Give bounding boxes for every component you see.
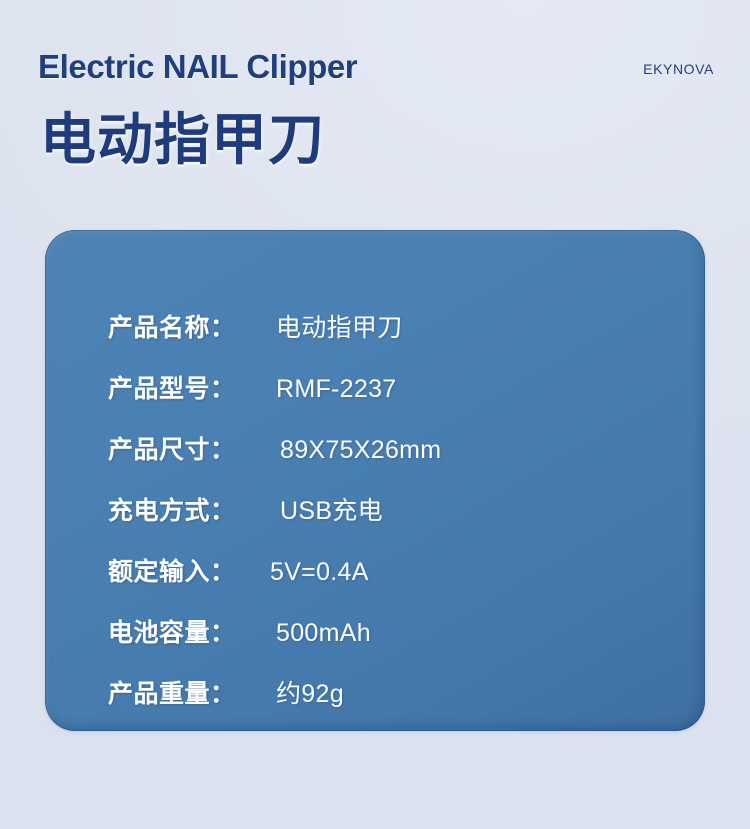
spec-label: 产品重量： <box>108 674 266 710</box>
spec-value: 电动指甲刀 <box>266 308 403 344</box>
spec-row-battery-capacity: 电池容量： 500mAh <box>108 613 371 647</box>
spec-label: 产品型号： <box>108 369 266 405</box>
spec-row-weight: 产品重量： 约92g <box>108 674 344 708</box>
brand-name: EKYNOVA <box>643 61 714 77</box>
spec-label: 产品名称： <box>108 308 266 344</box>
spec-row-dimensions: 产品尺寸： 89X75X26mm <box>108 430 441 464</box>
spec-row-model-number: 产品型号： RMF-2237 <box>108 369 397 403</box>
product-spec-page: Electric NAIL Clipper 电动指甲刀 EKYNOVA 产品名称… <box>0 0 750 829</box>
spec-value: 5V=0.4A <box>266 558 369 587</box>
spec-value: RMF-2237 <box>266 375 397 404</box>
spec-label: 电池容量： <box>108 613 266 649</box>
specification-list: 产品名称： 电动指甲刀 产品型号： RMF-2237 产品尺寸： 89X75X2… <box>45 266 705 731</box>
spec-row-product-name: 产品名称： 电动指甲刀 <box>108 308 403 342</box>
spec-label: 充电方式： <box>108 491 266 527</box>
specification-card: 产品名称： 电动指甲刀 产品型号： RMF-2237 产品尺寸： 89X75X2… <box>45 230 705 731</box>
spec-label: 产品尺寸： <box>108 430 266 466</box>
page-title-chinese: 电动指甲刀 <box>40 95 325 176</box>
spec-value: 89X75X26mm <box>266 436 441 465</box>
page-header: Electric NAIL Clipper 电动指甲刀 EKYNOVA <box>0 0 750 200</box>
spec-label: 额定输入： <box>108 552 266 588</box>
spec-row-rated-input: 额定输入： 5V=0.4A <box>108 552 369 586</box>
spec-row-charging-method: 充电方式： USB充电 <box>108 491 383 525</box>
spec-value: 约92g <box>266 674 344 710</box>
spec-value: USB充电 <box>266 491 383 527</box>
page-title-english: Electric NAIL Clipper <box>38 48 357 86</box>
spec-value: 500mAh <box>266 619 371 648</box>
